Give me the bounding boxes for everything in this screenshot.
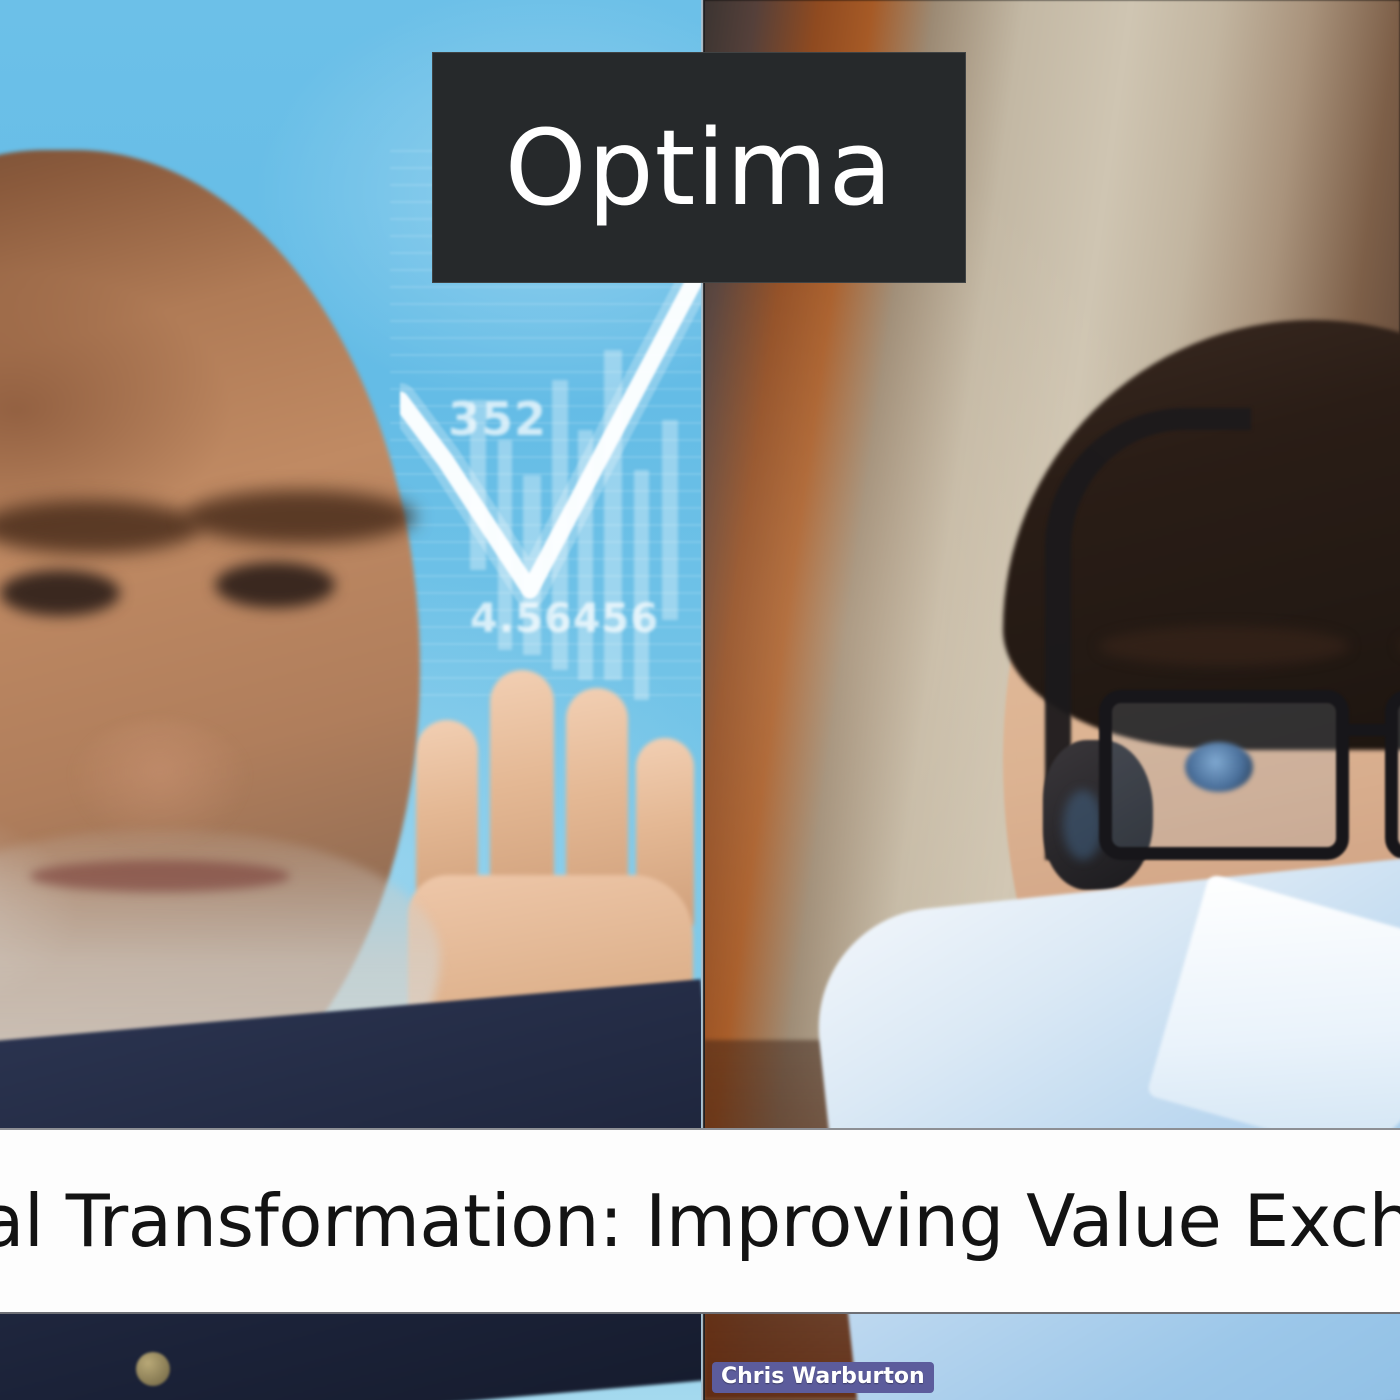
eyeglasses bbox=[1099, 690, 1400, 880]
left-speaker-mouth bbox=[30, 860, 290, 892]
left-speaker-eyebrow bbox=[185, 490, 415, 544]
right-speaker-eye bbox=[1185, 742, 1253, 792]
optima-wordmark: Optima bbox=[505, 116, 894, 220]
lower-third-title-bar: al Transformation: Improving Value Exch bbox=[0, 1128, 1400, 1314]
eyeglass-bridge bbox=[1347, 724, 1391, 736]
left-speaker-eye bbox=[0, 570, 120, 616]
headset-earcup-highlight bbox=[1063, 790, 1103, 860]
left-speaker-jacket-button bbox=[136, 1352, 170, 1386]
video-call-frame: 352 4.56456 bbox=[0, 0, 1400, 1400]
optima-logo-overlay: Optima bbox=[432, 52, 966, 283]
background-number-352: 352 bbox=[448, 392, 547, 446]
background-trend-line bbox=[400, 270, 703, 720]
participant-name-tag: Chris Warburton bbox=[712, 1362, 934, 1393]
right-speaker-eyebrow bbox=[1099, 626, 1349, 666]
eyeglass-lens bbox=[1385, 690, 1400, 860]
session-title: al Transformation: Improving Value Exch bbox=[0, 1179, 1400, 1263]
left-speaker-eye bbox=[215, 562, 335, 608]
participant-name-label: Chris Warburton bbox=[721, 1364, 925, 1389]
background-number-456456: 4.56456 bbox=[470, 596, 659, 642]
